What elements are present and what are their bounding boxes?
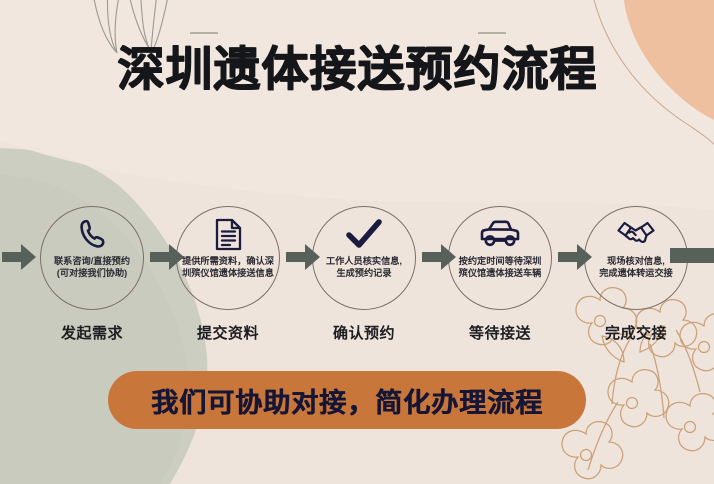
flow-step-label: 确认预约 — [294, 322, 434, 343]
description-line: 联系咨询/直接预约 — [30, 255, 154, 267]
process-flow: 联系咨询/直接预约 (可对接我们协助) 发起需求 — [0, 206, 714, 356]
checkmark-icon — [346, 216, 382, 252]
flow-step-label: 等待接送 — [430, 322, 570, 343]
description-line: 工作人员核实信息, — [302, 255, 426, 267]
description-line: 生成预约记录 — [302, 267, 426, 279]
flow-step-2[interactable]: 提供所需资料，确认深 圳殡仪馆遗体接送信息 提交资料 — [172, 206, 284, 356]
flow-step-label: 完成交接 — [566, 322, 706, 343]
flow-arrow-icon — [150, 242, 184, 272]
flow-step-5[interactable]: 现场核对信息, 完成遗体转运交接 完成交接 — [580, 206, 692, 356]
footer-banner[interactable]: 我们可协助对接，简化办理流程 — [108, 371, 586, 429]
cream-wash-shape — [0, 0, 714, 210]
handshake-icon — [616, 216, 656, 252]
description-line: 圳殡仪馆遗体接送信息 — [166, 267, 290, 279]
flow-step-circle: 联系咨询/直接预约 (可对接我们协助) — [40, 206, 144, 310]
description-line: 殡仪馆遗体接送车辆 — [438, 267, 562, 279]
flow-step-description: 按约定时间等待深圳 殡仪馆遗体接送车辆 — [438, 255, 562, 279]
flow-arrow-icon — [422, 242, 456, 272]
description-line: 提供所需资料，确认深 — [166, 255, 290, 267]
flow-arrow-tail — [670, 248, 714, 263]
flower-blossom — [562, 422, 623, 479]
flow-arrow-icon — [558, 242, 592, 272]
flow-arrow-icon — [2, 242, 36, 272]
flow-step-4[interactable]: 按约定时间等待深圳 殡仪馆遗体接送车辆 等待接送 — [444, 206, 556, 356]
flow-step-description: 工作人员核实信息, 生成预约记录 — [302, 255, 426, 279]
page-title: 深圳遗体接送预约流程 — [117, 44, 597, 97]
car-icon — [479, 216, 521, 252]
flow-step-circle: 按约定时间等待深圳 殡仪馆遗体接送车辆 — [448, 206, 552, 310]
flow-step-circle: 提供所需资料，确认深 圳殡仪馆遗体接送信息 — [176, 206, 280, 310]
flow-step-1[interactable]: 联系咨询/直接预约 (可对接我们协助) 发起需求 — [36, 206, 148, 356]
flow-step-circle: 工作人员核实信息, 生成预约记录 — [312, 206, 416, 310]
phone-icon — [77, 216, 107, 252]
flow-arrow-icon — [286, 242, 320, 272]
document-icon — [215, 216, 242, 252]
flow-step-label: 发起需求 — [22, 322, 162, 343]
flow-step-description: 提供所需资料，确认深 圳殡仪馆遗体接送信息 — [166, 255, 290, 279]
flow-step-label: 提交资料 — [158, 322, 298, 343]
footer-banner-text: 我们可协助对接，简化办理流程 — [151, 381, 543, 420]
description-line: 完成遗体转运交接 — [574, 267, 698, 279]
description-line: 按约定时间等待深圳 — [438, 255, 562, 267]
flower-blossom — [608, 370, 669, 427]
infographic-poster: 深圳遗体接送预约流程 联系咨询/直接预约 (可对接我们协助) — [0, 0, 714, 484]
description-line: (可对接我们协助) — [30, 267, 154, 279]
flower-blossom — [666, 394, 714, 451]
flow-step-description: 联系咨询/直接预约 (可对接我们协助) — [30, 255, 154, 279]
flow-step-3[interactable]: 工作人员核实信息, 生成预约记录 确认预约 — [308, 206, 420, 356]
poster-title-container: 深圳遗体接送预约流程 — [0, 44, 714, 97]
